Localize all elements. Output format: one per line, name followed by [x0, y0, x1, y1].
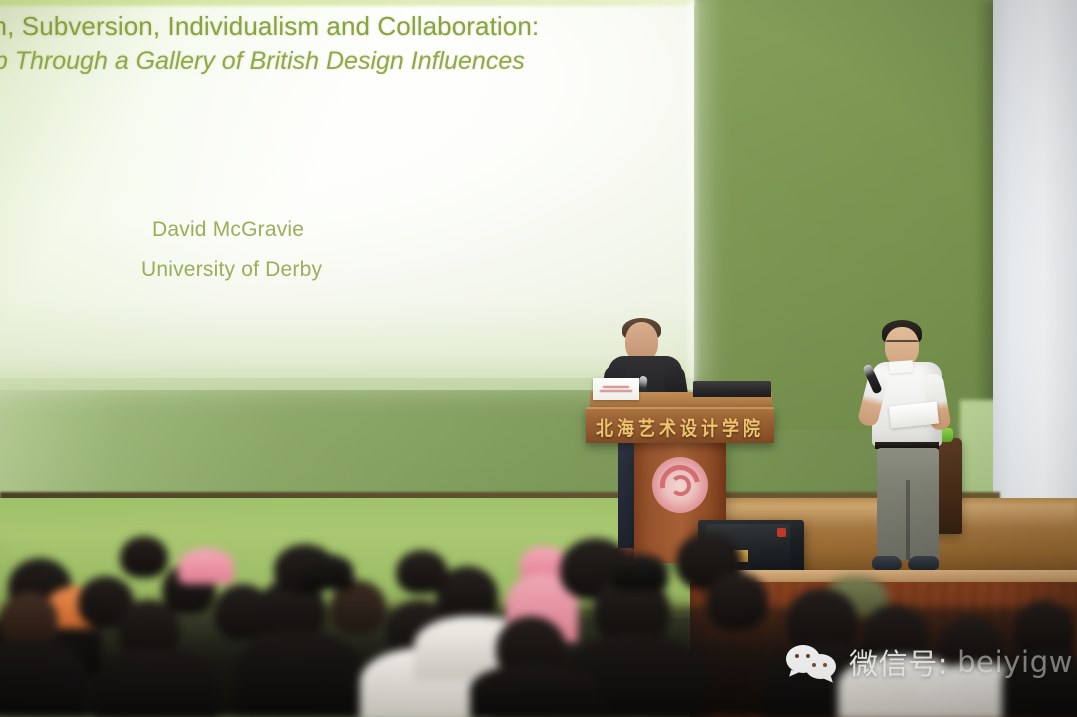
glasses-icon	[886, 340, 918, 347]
nameplate-card	[593, 378, 639, 400]
stage-monitor-badge	[733, 550, 748, 562]
stage-monitor-logo-icon	[777, 528, 786, 537]
wechat-icon	[786, 645, 840, 679]
speaker-standing	[860, 320, 958, 578]
speaker-standing-right-shoe	[908, 556, 939, 570]
wechat-label-prefix: 微信号:	[849, 641, 948, 683]
slide-title: on, Subversion, Individualism and Collab…	[0, 8, 698, 45]
trouser-seam	[906, 480, 910, 560]
nameplate-line	[600, 390, 632, 392]
screen-top-band	[0, 0, 694, 6]
podium-sign-text: 北海艺术设计学院	[596, 412, 764, 440]
slide-subtitle: op Through a Gallery of British Design I…	[0, 44, 700, 80]
slide-affiliation: University of Derby	[141, 258, 322, 282]
podium-sign: 北海艺术设计学院	[586, 407, 774, 443]
foreground-shadow	[0, 600, 700, 717]
nameplate-line	[603, 386, 629, 388]
wechat-watermark: 微信号: beiyigw	[786, 641, 1073, 683]
laptop	[693, 381, 771, 397]
lecture-photo-scene: on, Subversion, Individualism and Collab…	[0, 0, 1077, 717]
slide-presenter: David McGravie	[152, 218, 304, 242]
screen-bottom-fade	[0, 300, 694, 390]
shirt-collar	[889, 360, 914, 374]
speaker-standing-left-shoe	[872, 556, 902, 570]
college-seal-emblem	[652, 457, 708, 513]
wechat-handle: beiyigw	[957, 645, 1073, 679]
